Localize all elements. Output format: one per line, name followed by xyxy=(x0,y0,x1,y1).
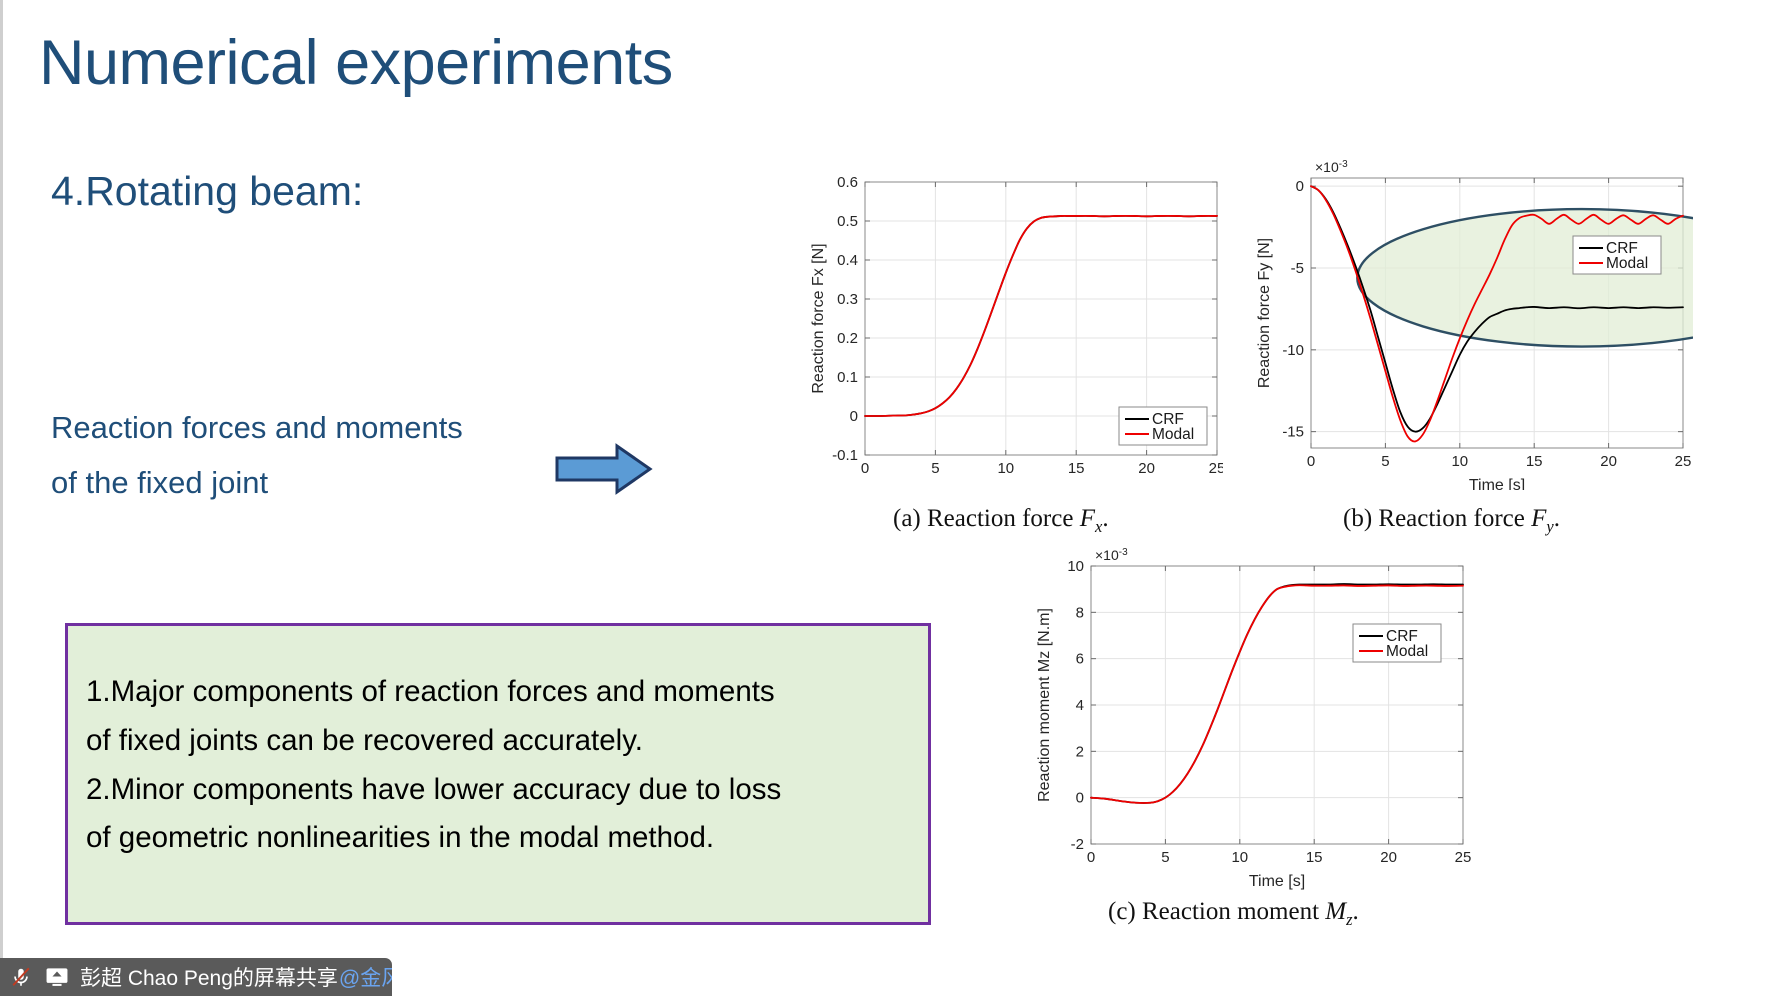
svg-text:15: 15 xyxy=(1526,453,1543,470)
conclusion-callout-box: 1.Major components of reaction forces an… xyxy=(65,623,931,925)
svg-text:15: 15 xyxy=(1068,460,1085,477)
svg-text:25: 25 xyxy=(1675,453,1692,470)
svg-text:15: 15 xyxy=(1306,849,1323,866)
slide-subtitle: 4.Rotating beam: xyxy=(51,168,363,215)
svg-text:0.4: 0.4 xyxy=(837,252,858,269)
svg-text:Reaction moment Mz [N.m]: Reaction moment Mz [N.m] xyxy=(1036,608,1053,802)
svg-text:×10-3: ×10-3 xyxy=(1315,159,1348,175)
svg-text:8: 8 xyxy=(1076,604,1084,621)
svg-text:0: 0 xyxy=(850,408,858,425)
svg-text:2: 2 xyxy=(1076,743,1084,760)
figure-caption-b: (b) Reaction force Fy. xyxy=(1343,505,1560,537)
svg-text:5: 5 xyxy=(1381,453,1389,470)
svg-text:0: 0 xyxy=(1296,178,1304,195)
left-description-line1: Reaction forces and moments xyxy=(51,400,463,455)
svg-text:Time [s]: Time [s] xyxy=(1469,477,1525,490)
svg-text:25: 25 xyxy=(1209,460,1223,477)
figure-caption-c: (c) Reaction moment Mz. xyxy=(1108,898,1359,930)
svg-text:5: 5 xyxy=(1161,849,1169,866)
right-arrow-icon xyxy=(555,443,653,495)
svg-text:-10: -10 xyxy=(1282,342,1304,359)
svg-text:6: 6 xyxy=(1076,651,1084,668)
svg-text:0.3: 0.3 xyxy=(837,291,858,308)
svg-text:-2: -2 xyxy=(1071,836,1084,853)
svg-text:10: 10 xyxy=(1231,849,1248,866)
presentation-slide: Numerical experiments 4.Rotating beam: R… xyxy=(0,0,1768,996)
svg-text:0.2: 0.2 xyxy=(837,330,858,347)
svg-text:0.1: 0.1 xyxy=(837,369,858,386)
svg-text:0.5: 0.5 xyxy=(837,213,858,230)
svg-text:Modal: Modal xyxy=(1606,255,1648,272)
svg-text:Modal: Modal xyxy=(1386,643,1428,660)
page-title: Numerical experiments xyxy=(39,32,673,95)
svg-text:10: 10 xyxy=(997,460,1014,477)
svg-text:0: 0 xyxy=(861,460,869,477)
screen-share-label: 彭超 Chao Peng的屏幕共享 xyxy=(80,962,338,992)
conclusion-line-1: 1.Major components of reaction forces an… xyxy=(86,670,914,715)
svg-text:0: 0 xyxy=(1076,790,1084,807)
svg-text:20: 20 xyxy=(1600,453,1617,470)
svg-text:-5: -5 xyxy=(1291,260,1304,277)
svg-text:0: 0 xyxy=(1087,849,1095,866)
left-description-line2: of the fixed joint xyxy=(51,455,463,510)
svg-text:20: 20 xyxy=(1138,460,1155,477)
svg-text:0: 0 xyxy=(1307,453,1315,470)
svg-text:-15: -15 xyxy=(1282,424,1304,441)
chart-reaction-force-fx: 0510152025-0.100.10.20.30.40.50.6Time [s… xyxy=(803,160,1223,485)
svg-text:10: 10 xyxy=(1067,558,1084,575)
svg-text:5: 5 xyxy=(931,460,939,477)
svg-text:0.6: 0.6 xyxy=(837,174,858,191)
svg-text:10: 10 xyxy=(1451,453,1468,470)
svg-text:×10-3: ×10-3 xyxy=(1095,547,1128,563)
chart-reaction-moment-mz: 0510152025-20246810×10-3Time [s]Reaction… xyxy=(1013,540,1473,895)
svg-text:20: 20 xyxy=(1380,849,1397,866)
screen-share-icon[interactable] xyxy=(42,964,72,990)
chart-reaction-force-fy: 05101520250-5-10-15×10-3Time [s]Reaction… xyxy=(1243,150,1693,495)
conclusion-line-2: of fixed joints can be recovered accurat… xyxy=(86,719,914,764)
microphone-muted-icon[interactable] xyxy=(6,964,36,990)
screen-share-taskbar[interactable]: 彭超 Chao Peng的屏幕共享 @金风科技 xyxy=(0,958,392,996)
svg-text:Reaction force Fy [N]: Reaction force Fy [N] xyxy=(1256,238,1273,388)
svg-text:Reaction force Fx [N]: Reaction force Fx [N] xyxy=(810,243,827,393)
figure-caption-a: (a) Reaction force Fx. xyxy=(893,505,1109,537)
svg-text:-0.1: -0.1 xyxy=(832,447,858,464)
screen-share-org-tag: @金风科技 xyxy=(339,962,392,992)
conclusion-text: 1.Major components of reaction forces an… xyxy=(86,670,914,865)
conclusion-line-3: 2.Minor components have lower accuracy d… xyxy=(86,768,914,813)
svg-text:4: 4 xyxy=(1076,697,1084,714)
left-description: Reaction forces and moments of the fixed… xyxy=(51,400,463,510)
svg-text:25: 25 xyxy=(1455,849,1472,866)
conclusion-line-4: of geometric nonlinearities in the modal… xyxy=(86,816,914,861)
svg-text:Time [s]: Time [s] xyxy=(1249,873,1305,890)
svg-text:Modal: Modal xyxy=(1152,426,1194,443)
